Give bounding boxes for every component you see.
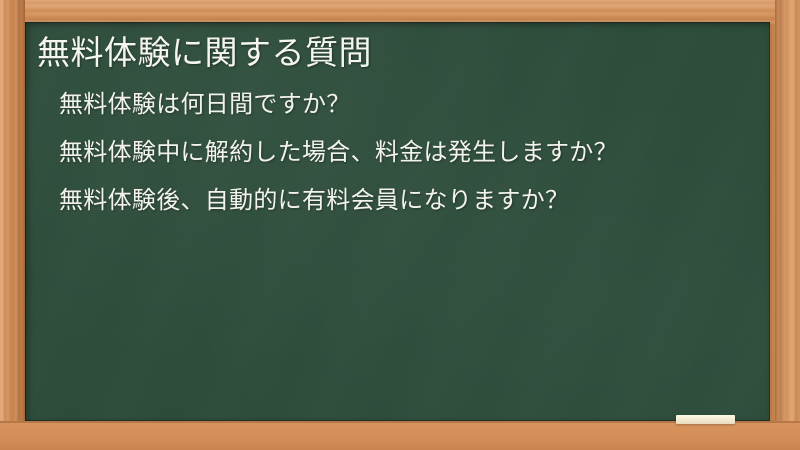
- chalkboard-slide: 無料体験に関する質問 無料体験は何日間ですか？ 無料体験中に解約した場合、料金は…: [0, 0, 800, 450]
- slide-content: 無料体験に関する質問 無料体験は何日間ですか？ 無料体験中に解約した場合、料金は…: [25, 22, 770, 232]
- chalkboard-surface: 無料体験に関する質問 無料体験は何日間ですか？ 無料体験中に解約した場合、料金は…: [25, 22, 770, 421]
- list-item: 無料体験後、自動的に有料会員になりますか？: [59, 184, 731, 218]
- frame-top-rail: [0, 0, 800, 24]
- chalk-stick-icon: [676, 415, 735, 424]
- question-list: 無料体験は何日間ですか？ 無料体験中に解約した場合、料金は発生しますか？ 無料体…: [37, 88, 752, 218]
- frame-bottom-ledge: [0, 421, 800, 450]
- page-title: 無料体験に関する質問: [37, 32, 752, 74]
- frame-right-rail: [775, 0, 800, 450]
- frame-left-rail: [0, 0, 25, 450]
- list-item: 無料体験は何日間ですか？: [59, 88, 731, 122]
- list-item: 無料体験中に解約した場合、料金は発生しますか？: [59, 136, 731, 170]
